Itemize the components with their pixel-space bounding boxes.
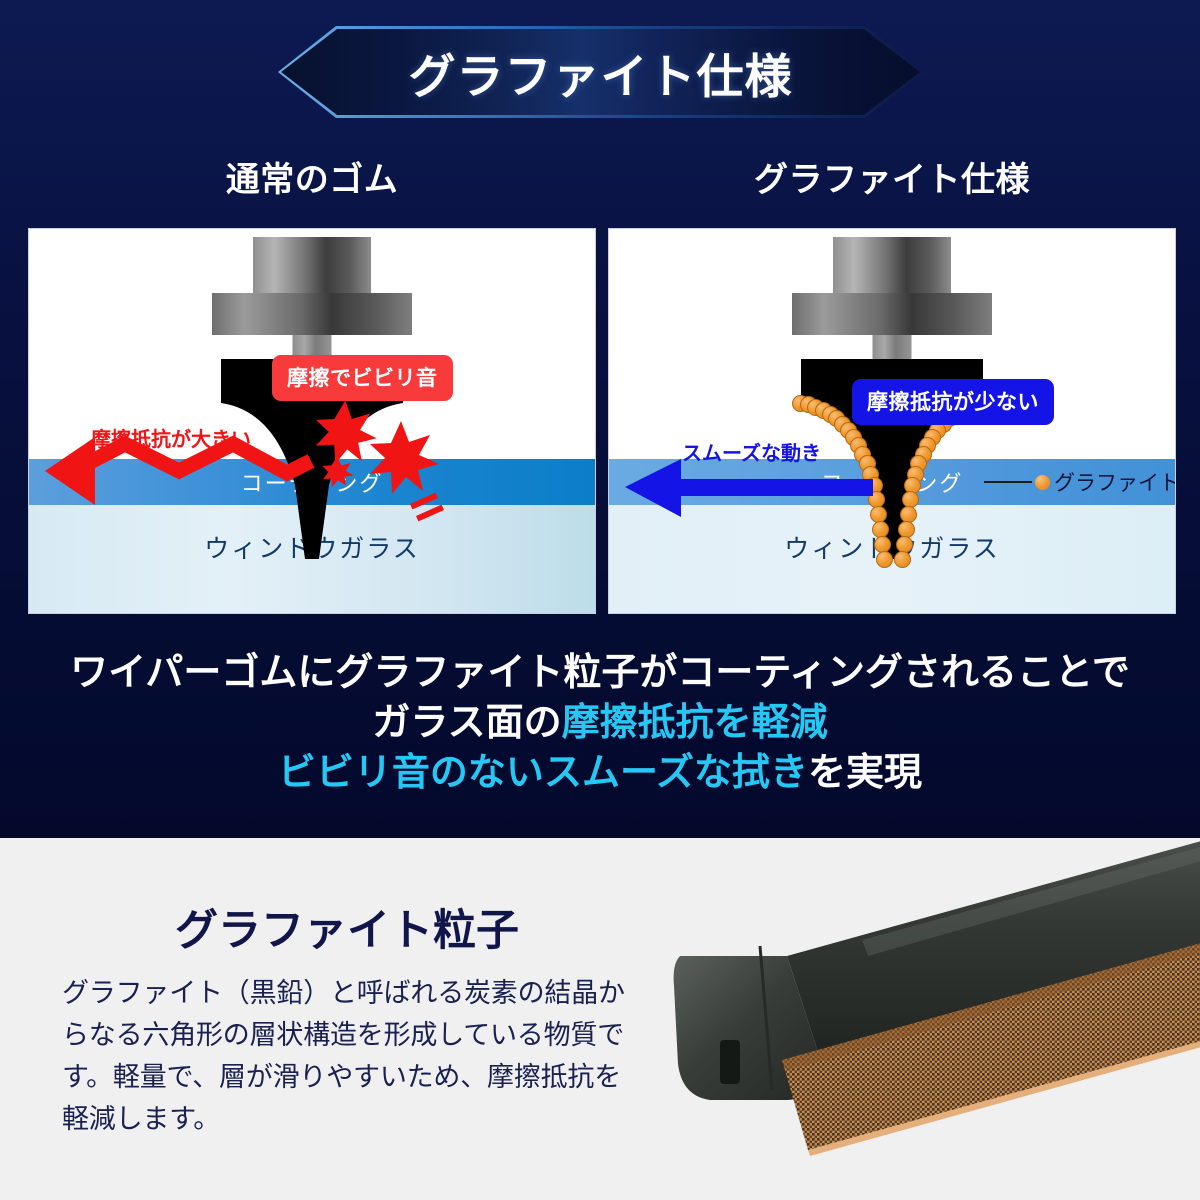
panel-title-right: グラファイト仕様 xyxy=(608,152,1176,201)
bottom-light-section: グラファイト粒子 グラファイト（黒鉛）と呼ばれる炭素の結晶からなる六角形の層状構… xyxy=(0,838,1200,1200)
summary-line-2-highlight: 摩擦抵抗を軽減 xyxy=(562,702,828,744)
diagram-normal-rubber: コーティング ウィンドウガラス xyxy=(28,228,596,614)
friction-label-left: 摩擦抵抗が大きい xyxy=(91,423,251,452)
callout-label: グラファイト粒子 xyxy=(1054,467,1176,497)
wiper-holder-top-left xyxy=(253,237,371,295)
particle-callout: グラファイト粒子 xyxy=(984,467,1176,497)
wiper-holder-mid-right xyxy=(792,293,992,335)
comparison-panels: 通常のゴム コーティング ウィンドウガラス xyxy=(0,150,1200,620)
diagram-graphite-spec: コーティング ウィンドウガラス xyxy=(608,228,1176,614)
panel-normal-rubber: 通常のゴム コーティング ウィンドウガラス xyxy=(28,150,596,620)
summary-line-1: ワイパーゴムにグラファイト粒子がコーティングされることで xyxy=(0,648,1200,698)
summary-line-2: ガラス面の摩擦抵抗を軽減 xyxy=(0,698,1200,748)
noise-badge: 摩擦でビビリ音 xyxy=(272,355,453,401)
wiper-holder-top-right xyxy=(833,237,951,295)
top-dark-section: グラファイト仕様 通常のゴム コーティング ウィンドウガラス xyxy=(0,0,1200,838)
graphite-wiper-infographic: グラファイト仕様 通常のゴム コーティング ウィンドウガラス xyxy=(0,0,1200,1200)
summary-line-1-text: ワイパーゴムにグラファイト粒子がコーティングされることで xyxy=(70,652,1130,694)
bottom-heading: グラファイト粒子 xyxy=(62,896,632,958)
page-title: グラファイト仕様 xyxy=(409,38,793,107)
wiper-blade-photo xyxy=(612,828,1200,1158)
summary-line-3-highlight-2: スムーズな拭き xyxy=(544,752,808,794)
panel-graphite-spec: グラファイト仕様 コーティング ウィンドウガラス xyxy=(608,150,1176,620)
panel-title-left: 通常のゴム xyxy=(28,152,596,201)
graphite-description-block: グラファイト粒子 グラファイト（黒鉛）と呼ばれる炭素の結晶からなる六角形の層状構… xyxy=(62,896,632,1140)
low-friction-badge: 摩擦抵抗が少ない xyxy=(852,379,1054,425)
graphite-particle-icon xyxy=(1035,475,1050,490)
summary-line-3-highlight-1: ビビリ音のない xyxy=(278,752,544,794)
summary-text-block: ワイパーゴムにグラファイト粒子がコーティングされることで ガラス面の摩擦抵抗を軽… xyxy=(0,648,1200,798)
summary-line-3-suffix: を実現 xyxy=(808,752,922,794)
smooth-motion-label: スムーズな動き xyxy=(682,437,821,466)
wiper-holder-mid-left xyxy=(212,293,412,335)
bottom-body-text: グラファイト（黒鉛）と呼ばれる炭素の結晶からなる六角形の層状構造を形成している物… xyxy=(62,972,632,1140)
header-banner: グラファイト仕様 xyxy=(278,26,923,118)
banner-inner: グラファイト仕様 xyxy=(281,29,920,115)
summary-line-2-prefix: ガラス面の xyxy=(372,702,561,744)
callout-leader-line xyxy=(984,481,1032,483)
summary-line-3: ビビリ音のないスムーズな拭きを実現 xyxy=(0,748,1200,798)
